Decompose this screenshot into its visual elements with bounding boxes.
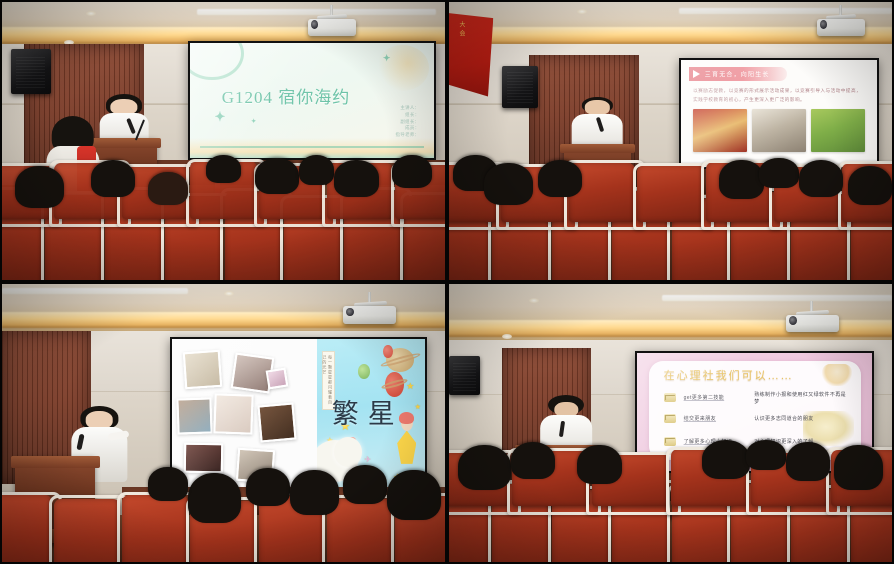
slide-photo-strip (693, 109, 865, 152)
collage-photo (213, 393, 253, 435)
audience-head (148, 467, 188, 500)
audience-head (746, 440, 786, 471)
ceiling-projector (817, 5, 866, 38)
slide-collage-background: 每一颗星星都闪耀着自己的光芒 ★ ★ (172, 339, 425, 488)
slide-photo-outdoor-field (811, 109, 865, 152)
planet-small-red (383, 345, 393, 358)
decor-blob (376, 45, 430, 91)
audience-head (246, 468, 290, 507)
audience-head (719, 160, 763, 199)
bullet-left-text: 结交更来朋友 (684, 415, 747, 422)
slide-bullet-row: get更多第二技能 熟练制作小报和使用红又绿软件不再是梦 (664, 391, 848, 405)
slide-subtitle-block: 主讲人： 组长： 副组长： 成员： 指导老师： (396, 105, 420, 138)
projector-lens (789, 316, 797, 325)
audience-head (799, 160, 843, 196)
projection-screen: 每一颗星星都闪耀着自己的光芒 ★ ★ (170, 337, 427, 490)
wall-speaker (502, 66, 537, 108)
slide-ribbon-title: 三育无合，向阳生长 (705, 70, 770, 79)
banner-text: 大会 (457, 21, 466, 39)
slide-decor-girl (822, 364, 852, 386)
audience-head (334, 160, 378, 196)
envelope-icon (664, 437, 676, 446)
sparkle-icon: ✦ (383, 54, 391, 63)
panel-bottom-left: 每一颗星星都闪耀着自己的光芒 ★ ★ (0, 282, 447, 564)
audience-head (206, 155, 241, 183)
decor-line (200, 146, 425, 148)
slide-mint-background: ✦ ✦ ✦ G1204 宿你海约 主讲人： 组长： 副组长： 成员： 指导老师： (190, 43, 434, 159)
slide-report-background: 三育无合，向阳生长 以赛励志促教，以竞赛的形式展示活动成果，以竞赛引导入与活动中… (681, 60, 876, 167)
girl-star-body (397, 430, 416, 463)
projection-screen: 三育无合，向阳生长 以赛励志促教，以竞赛的形式展示活动成果，以竞赛引导入与活动中… (679, 58, 878, 169)
audience-head (484, 163, 533, 205)
wall-speaker (449, 356, 480, 395)
downlight (529, 298, 539, 303)
audience-head (255, 158, 299, 194)
collage-photo (176, 398, 212, 435)
lecture-hall-room: ✦ ✦ ✦ G1204 宿你海约 主讲人： 组长： 副组长： 成员： 指导老师： (2, 2, 445, 280)
star-icon: ★ (415, 404, 421, 411)
bullet-right-text: 熟练制作小报和使用红又绿软件不再是梦 (754, 391, 848, 405)
projection-screen: ✦ ✦ ✦ G1204 宿你海约 主讲人： 组长： 副组长： 成员： 指导老师： (188, 41, 436, 161)
lecture-hall-room: 大会 三育无合，向阳生长 以赛励志促教，以竞赛的形式展示活动成果，以竞赛引导入与… (449, 2, 892, 280)
ceiling-projector (786, 301, 839, 334)
audience-head (290, 470, 339, 514)
collage-photo (266, 367, 289, 389)
collage-photo (257, 403, 296, 443)
presenter-head (86, 411, 113, 428)
cloud-shape (334, 437, 362, 467)
bullet-right-text: 认识更多志同道合的朋友 (754, 415, 848, 422)
slide-ribbon: 三育无合，向阳生长 (689, 67, 787, 81)
audience-head (511, 442, 555, 478)
audience-head (848, 166, 892, 205)
photo-collage-grid: ✦ ✦ ✦ G1204 宿你海约 主讲人： 组长： 副组长： 成员： 指导老师： (0, 0, 894, 564)
planet-green (358, 364, 370, 379)
downlight (86, 11, 96, 16)
audience-head (538, 160, 582, 196)
auditorium-seat (637, 165, 703, 221)
panel-top-left: ✦ ✦ ✦ G1204 宿你海约 主讲人： 组长： 副组长： 成员： 指导老师： (0, 0, 447, 282)
projector-lens (820, 20, 827, 29)
slide-photo-red-ceremony (693, 109, 747, 152)
planet-ring (381, 378, 408, 391)
audience-head (786, 442, 830, 481)
envelope-icon (664, 393, 676, 402)
audience-head (392, 155, 432, 188)
bullet-left-text: get更多第二技能 (684, 394, 747, 401)
collage-photo (184, 443, 223, 473)
audience-head (343, 465, 387, 504)
audience-head (15, 166, 64, 208)
slide-title: 在心理社我们可以…… (664, 367, 794, 383)
ceiling-projector (308, 5, 357, 38)
sparkle-icon: ✦ (251, 119, 256, 125)
collage-photo (183, 349, 223, 389)
envelope-icon (664, 414, 676, 423)
collage-photo-area (172, 339, 316, 488)
star-icon: ★ (406, 382, 414, 391)
slide-title: G1204 宿你海约 (222, 83, 351, 108)
lecture-hall-room: 每一颗星星都闪耀着自己的光芒 ★ ★ (2, 284, 445, 562)
slide-body-text: 以赛励志促教，以竞赛的形式展示活动成果，以竞赛引导入与活动中提高，实践学校教育的… (693, 87, 865, 104)
wall-speaker (11, 49, 51, 93)
panel-bottom-right: 在心理社我们可以…… get更多第二技能 熟练制作小报和使用红又绿软件不再是梦 … (447, 282, 894, 564)
auditorium-seat (122, 495, 188, 562)
audience-head (834, 445, 883, 489)
audience-head (759, 158, 799, 189)
subtitle-line: 主讲人： (396, 105, 420, 112)
audience-head (458, 445, 511, 489)
downlight (224, 291, 234, 296)
ceiling-light-strip (662, 295, 892, 301)
decor-arc (190, 43, 244, 80)
subtitle-line: 组长： (396, 112, 420, 119)
sparkle-icon: ✦ (214, 110, 225, 123)
ceiling-projector (343, 292, 396, 325)
audience-head (577, 445, 621, 484)
audience-head (148, 172, 188, 205)
slide-photo-indoor-activity (752, 109, 806, 152)
auditorium-seat (327, 499, 393, 562)
poster-title: 繁星 (332, 392, 404, 431)
ceiling-light-strip (2, 288, 188, 294)
audience-head (188, 473, 241, 523)
lecture-hall-room: 在心理社我们可以…… get更多第二技能 熟练制作小报和使用红又绿软件不再是梦 … (449, 284, 892, 562)
projector-lens (311, 20, 318, 29)
paper-plane-icon: ✈ (364, 456, 371, 464)
audience-head (91, 160, 135, 196)
auditorium-seat (54, 499, 120, 562)
red-banner-flag: 大会 (449, 13, 493, 96)
subtitle-line: 成员： (396, 125, 420, 132)
panel-top-right: 大会 三育无合，向阳生长 以赛励志促教，以竞赛的形式展示活动成果，以竞赛引导入与… (447, 0, 894, 282)
auditorium-seat (2, 495, 52, 562)
slide-bullet-row: 结交更来朋友 认识更多志同道合的朋友 (664, 414, 848, 423)
subtitle-line: 指导老师： (396, 132, 420, 139)
audience-head (702, 440, 751, 479)
audience-head (299, 155, 334, 186)
audience-head (387, 470, 440, 520)
